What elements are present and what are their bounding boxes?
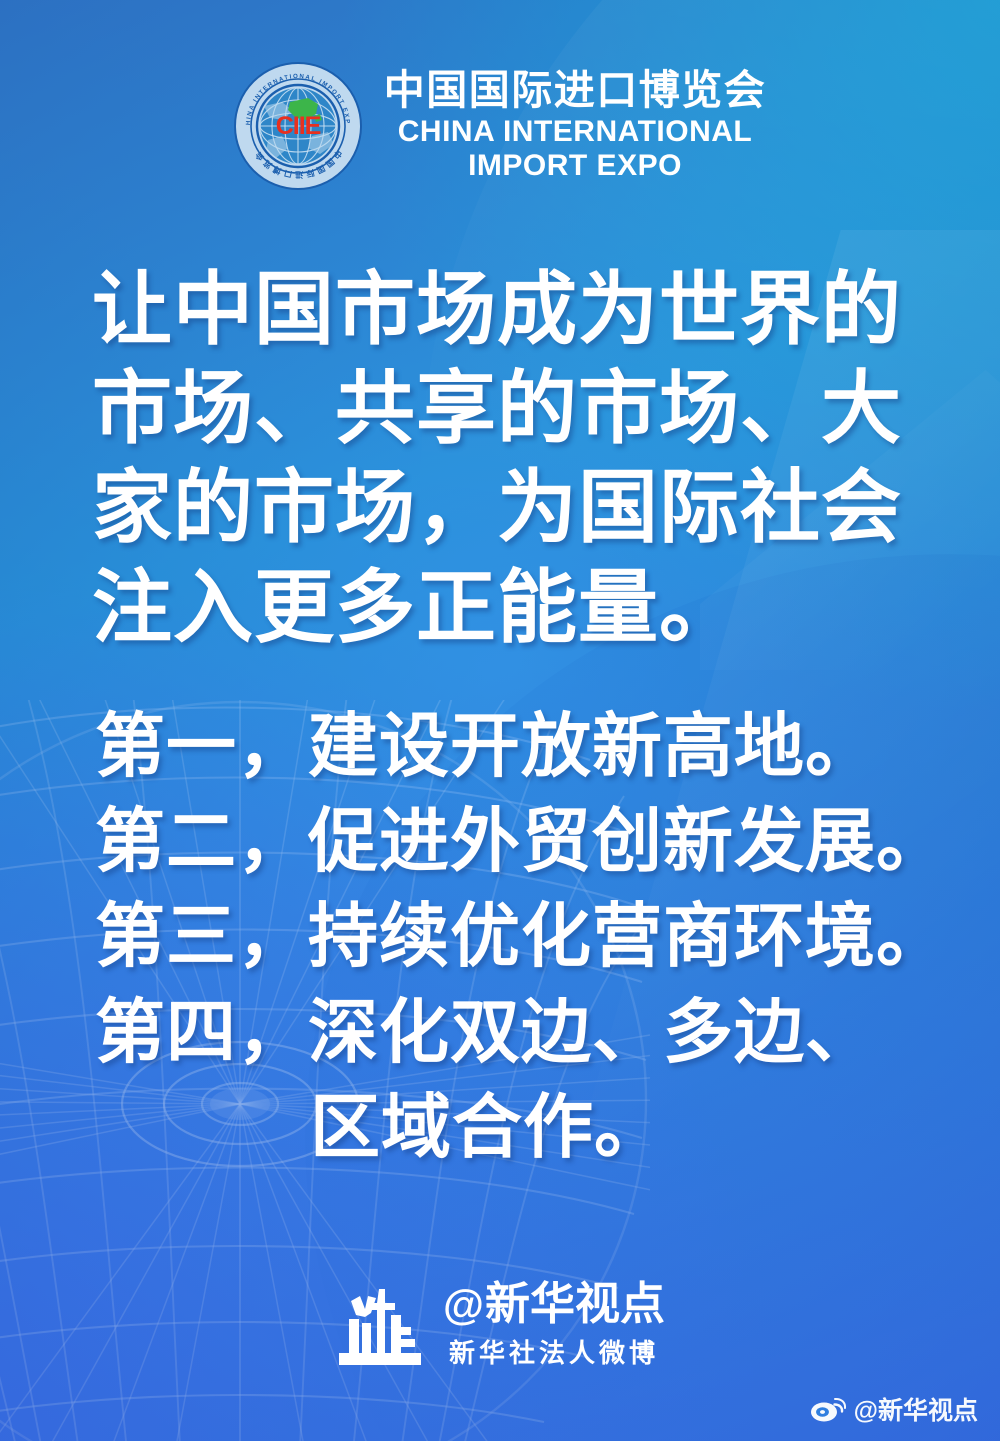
key-point-3: 第三，持续优化营商环境。 bbox=[95, 890, 975, 985]
key-point-4: 第四，深化双边、多边、 bbox=[95, 986, 975, 1081]
xinhua-account-name: 新华视点 bbox=[485, 1281, 665, 1326]
xinhua-footer-lockup: @新华视点 新华社法人微博 bbox=[0, 1281, 1000, 1370]
poster-canvas: CIIE CHINA INTERNATIONAL IMPORT EXPO 中国国… bbox=[0, 0, 1000, 1441]
xinhua-mark-icon bbox=[335, 1283, 427, 1369]
ciie-title-en1: CHINA INTERNATIONAL bbox=[398, 115, 752, 149]
svg-text:CIIE: CIIE bbox=[275, 112, 320, 140]
xinhua-account-line: @新华视点 bbox=[443, 1281, 665, 1326]
ciie-globe-emblem-icon: CIIE CHINA INTERNATIONAL IMPORT EXPO 中国国… bbox=[234, 62, 362, 190]
weibo-watermark-label: @新华视点 bbox=[854, 1391, 978, 1427]
ciie-header-lockup: CIIE CHINA INTERNATIONAL IMPORT EXPO 中国国… bbox=[0, 62, 1000, 190]
weibo-watermark: @新华视点 bbox=[810, 1391, 978, 1427]
at-symbol: @ bbox=[443, 1284, 484, 1326]
ciie-wordmark: 中国国际进口博览会 CHINA INTERNATIONAL IMPORT EXP… bbox=[384, 69, 767, 182]
xinhua-subtitle: 新华社法人微博 bbox=[449, 1333, 659, 1370]
key-point-1: 第一，建设开放新高地。 bbox=[95, 700, 975, 795]
ciie-title-cn: 中国国际进口博览会 bbox=[384, 69, 767, 112]
headline-quote: 让中国市场成为世界的市场、共享的市场、大家的市场，为国际社会注入更多正能量。 bbox=[92, 262, 952, 659]
key-point-4-continued: 区域合作。 bbox=[95, 1081, 975, 1176]
key-points-list: 第一，建设开放新高地。 第二，促进外贸创新发展。 第三，持续优化营商环境。 第四… bbox=[95, 700, 975, 1176]
xinhua-text-block: @新华视点 新华社法人微博 bbox=[443, 1281, 665, 1370]
key-point-2: 第二，促进外贸创新发展。 bbox=[95, 795, 975, 890]
ciie-title-en2: IMPORT EXPO bbox=[468, 149, 682, 183]
weibo-eye-icon bbox=[810, 1395, 846, 1423]
